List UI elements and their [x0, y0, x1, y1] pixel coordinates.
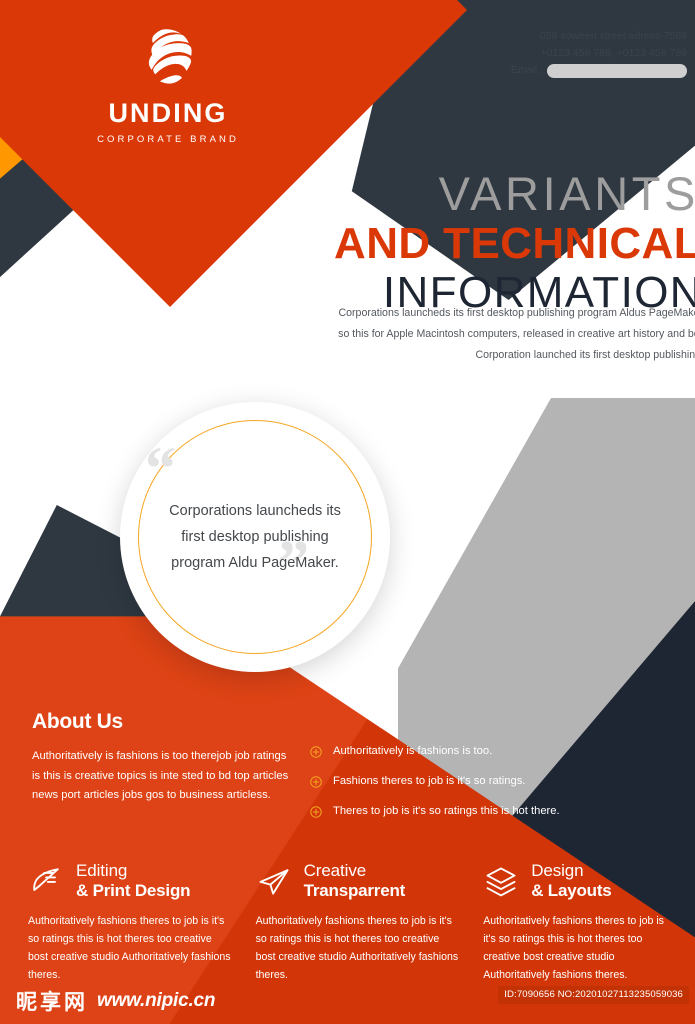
globe-sphere-logo-icon [131, 20, 205, 94]
hero-line-and-technical: AND TECHNICAL [0, 219, 695, 268]
brand-tagline: CORPORATE BRAND [62, 134, 274, 145]
feature-title-light: Design [531, 862, 611, 880]
contact-info: 058 soween street adress-7589 +0123 456 … [511, 28, 687, 79]
about-us-title: About Us [32, 710, 297, 734]
feature-title-bold: & Print Design [76, 882, 190, 900]
feature-editing-print-design: Editing & Print Design Authoritatively f… [28, 862, 256, 984]
plus-circle-icon [310, 776, 322, 788]
layers-stack-icon [483, 863, 519, 899]
feature-body: Authoritatively fashions theres to job i… [256, 912, 460, 984]
feature-header: Design & Layouts [483, 862, 678, 899]
feature-title-bold: Transparrent [304, 882, 406, 900]
stock-id-badge: ID:7090656 NO:20201027113235059036 [498, 986, 689, 1004]
contact-phones: +0123 456 789, +0123 456 789 [511, 45, 687, 62]
feature-body: Authoritatively fashions theres to job i… [483, 912, 678, 984]
plus-circle-icon [310, 806, 322, 818]
quote-open-mark: “ [145, 438, 176, 500]
feature-body: Authoritatively fashions theres to job i… [28, 912, 232, 984]
plus-circle-icon [310, 746, 322, 758]
feature-header: Creative Transparrent [256, 862, 460, 899]
feature-creative-transparrent: Creative Transparrent Authoritatively fa… [256, 862, 484, 984]
feature-title-light: Editing [76, 862, 190, 880]
feature-titles: Design & Layouts [531, 862, 611, 899]
hero-desc-line-1: Corporations launcheds its first desktop… [0, 303, 695, 324]
contact-email-label: Email : [511, 62, 543, 79]
paper-plane-icon [256, 863, 292, 899]
hero-description: Corporations launcheds its first desktop… [0, 303, 695, 366]
feature-design-layouts: Design & Layouts Authoritatively fashion… [483, 862, 678, 984]
list-item-label: Fashions theres to job is it's so rating… [333, 775, 525, 788]
hero-desc-line-2: so this for Apple Macintosh computers, r… [0, 324, 695, 345]
list-item-label: Theres to job is it's so ratings this is… [333, 805, 560, 818]
feature-header: Editing & Print Design [28, 862, 232, 899]
footer-watermark: 昵享网 www.nipic.cn [16, 986, 215, 1016]
about-us-checklist: Authoritatively is fashions is too. Fash… [310, 745, 640, 835]
list-item: Authoritatively is fashions is too. [310, 745, 640, 758]
brand-logo: UNDING CORPORATE BRAND [62, 20, 274, 145]
contact-address: 058 soween street adress-7589 [511, 28, 687, 45]
poster-canvas: UNDING CORPORATE BRAND 058 soween street… [0, 0, 695, 1024]
feature-columns: Editing & Print Design Authoritatively f… [28, 862, 678, 984]
brand-name: UNDING [62, 100, 274, 127]
contact-email-redacted [547, 64, 687, 78]
contact-email-row: Email : [511, 62, 687, 79]
hero-desc-line-3: Corporation launched its first desktop p… [0, 345, 695, 366]
about-us-body: Authoritatively is fashions is too there… [32, 747, 297, 806]
feature-titles: Editing & Print Design [76, 862, 190, 899]
list-item: Theres to job is it's so ratings this is… [310, 805, 640, 818]
hero-line-variants: VARIANTS [0, 170, 695, 218]
list-item: Fashions theres to job is it's so rating… [310, 775, 640, 788]
about-us-section: About Us Authoritatively is fashions is … [32, 710, 297, 806]
watermark-url: www.nipic.cn [97, 990, 215, 1012]
hero-heading: VARIANTS AND TECHNICAL INFORMATION [0, 170, 695, 317]
feature-titles: Creative Transparrent [304, 862, 406, 899]
watermark-cn-text: 昵享网 [16, 986, 88, 1016]
feature-title-bold: & Layouts [531, 882, 611, 900]
list-item-label: Authoritatively is fashions is too. [333, 745, 492, 758]
quote-text: Corporations launcheds its first desktop… [157, 498, 353, 576]
quill-pen-icon [28, 863, 64, 899]
feature-title-light: Creative [304, 862, 406, 880]
